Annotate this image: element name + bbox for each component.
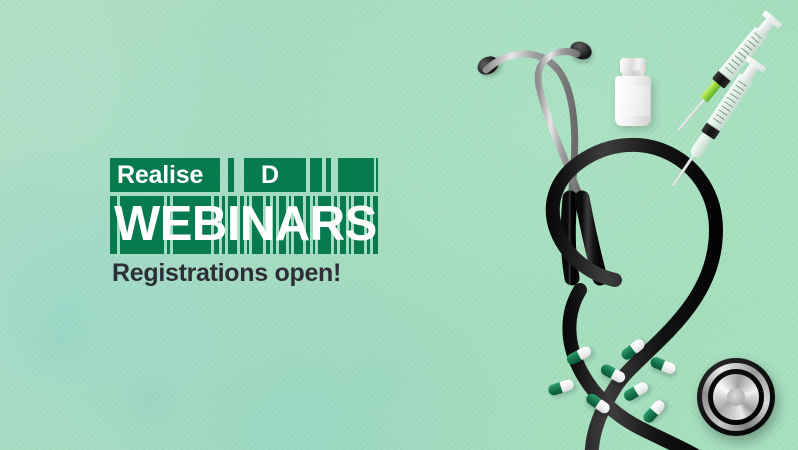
brand-suffix-label: D — [110, 158, 378, 192]
vial-label — [616, 86, 650, 116]
logo-lockup: Realise D WEBINARS — [110, 158, 378, 254]
headline-label: WEBINARS — [110, 196, 378, 254]
chestpiece-center — [727, 388, 745, 406]
medicine-vial — [613, 58, 653, 126]
promo-banner: Realise D WEBINARS Registrations open! — [0, 0, 798, 450]
barcode-row-top: Realise D — [110, 158, 378, 192]
barcode-row-bottom: WEBINARS — [110, 196, 378, 254]
tagline-text: Registrations open! — [112, 261, 341, 286]
stethoscope-chestpiece — [697, 358, 775, 436]
